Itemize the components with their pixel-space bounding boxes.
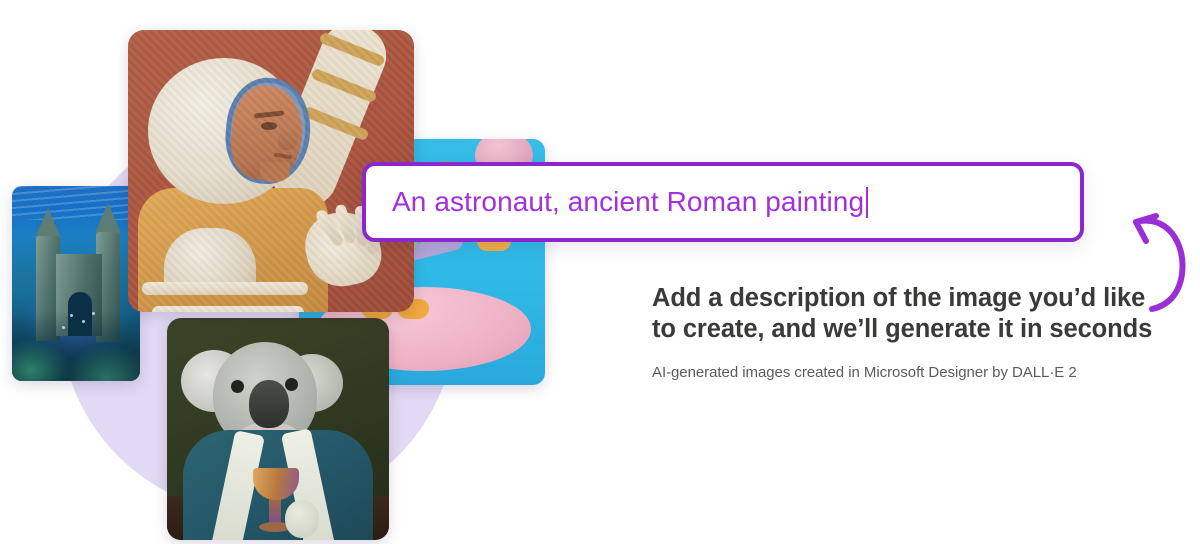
astronaut-finger bbox=[314, 208, 345, 248]
water-sparkle bbox=[70, 314, 73, 317]
hero-attribution: AI-generated images created in Microsoft… bbox=[652, 364, 1172, 381]
hero-headline: Add a description of the image you’d lik… bbox=[652, 283, 1172, 345]
astronaut-finger bbox=[334, 203, 357, 244]
castle-artwork bbox=[12, 186, 140, 381]
water-sparkle bbox=[82, 320, 85, 323]
hero-stage: An astronaut, ancient Roman painting Add… bbox=[0, 0, 1200, 544]
gallery-image-koala-portrait bbox=[167, 318, 389, 540]
astronaut-eye bbox=[261, 122, 277, 130]
castle-roof-right bbox=[95, 203, 121, 233]
koala-nose bbox=[249, 380, 289, 428]
astronaut-lip bbox=[274, 152, 292, 159]
water-sparkle bbox=[92, 312, 95, 315]
text-caret bbox=[866, 187, 868, 218]
koala-paw bbox=[285, 500, 319, 538]
astronaut-arm-band bbox=[310, 68, 377, 104]
gallery-image-underwater-castle bbox=[12, 186, 140, 381]
castle-seafloor bbox=[12, 311, 140, 381]
koala-eye-right bbox=[285, 378, 298, 391]
astronaut-torso bbox=[138, 188, 328, 312]
astronaut-chin bbox=[260, 162, 290, 182]
astronaut-arm-band bbox=[318, 32, 385, 68]
castle-roof-left bbox=[35, 208, 61, 238]
curved-arrow-icon bbox=[1126, 208, 1200, 324]
astronaut-suit-band bbox=[152, 306, 304, 312]
prompt-input[interactable]: An astronaut, ancient Roman painting bbox=[362, 162, 1084, 242]
hero-copy: Add a description of the image you’d lik… bbox=[652, 283, 1172, 381]
astronaut-brow bbox=[254, 110, 284, 118]
water-sparkle bbox=[62, 326, 65, 329]
astronaut-helmet bbox=[148, 58, 300, 204]
koala-eye-left bbox=[231, 380, 244, 393]
astronaut-chest-pack bbox=[164, 228, 256, 294]
astronaut-arm-band bbox=[302, 106, 369, 142]
astronaut-visor bbox=[221, 74, 316, 188]
goblet-stem bbox=[269, 498, 281, 524]
astronaut-face bbox=[227, 83, 306, 184]
astronaut-nose bbox=[278, 126, 298, 150]
prompt-input-value: An astronaut, ancient Roman painting bbox=[392, 186, 864, 218]
koala-artwork bbox=[167, 318, 389, 540]
astronaut-suit-band bbox=[142, 282, 308, 295]
